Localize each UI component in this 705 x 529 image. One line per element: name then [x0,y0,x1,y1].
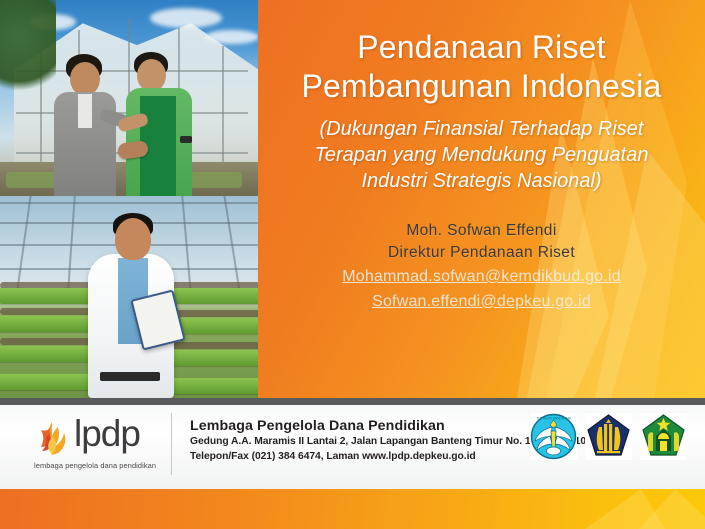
shirt-collar [78,94,92,128]
slide-subtitle-line-1: (Dukungan Finansial Terhadap Riset [272,116,691,142]
presenter-role: Direktur Pendanaan Riset [272,242,691,264]
flame-ray-decoration [585,489,665,529]
researcher-greenhouse-photo [0,196,258,398]
kementerian-agama-logo [640,413,687,460]
email-link-depkeu[interactable]: Sofwan.effendi@depkeu.go.id [272,291,691,314]
roof-beam [0,202,258,204]
lpdp-wordmark: lpdp [74,415,140,452]
title-panel: Pendanaan Riset Pembangunan Indonesia (D… [258,0,705,398]
lettuce-row [166,288,258,304]
lpdp-logo: lpdp lembaga pengelola dana pendidikan [28,417,164,475]
belt [100,372,160,381]
slide-subtitle-line-2: Terapan yang Mendukung Penguatan [272,142,691,168]
slide-subtitle: (Dukungan Finansial Terhadap Riset Terap… [272,116,691,194]
wristwatch [180,136,192,143]
footer-band: lpdp lembaga pengelola dana pendidikan L… [0,405,705,489]
flame-ray-decoration [639,489,705,529]
greenhouse-handshake-photo [0,0,258,196]
slide-title-line-2: Pembangunan Indonesia [272,67,691,106]
ministry-logos: TUT WURI HANDAYANI [530,413,687,460]
email-link-kemdikbud[interactable]: Mohammad.sofwan@kemdikbud.go.id [272,266,691,289]
slide-title: Pendanaan Riset Pembangunan Indonesia [272,0,691,106]
grass-patch [6,172,58,188]
bottom-accent-strip [0,489,705,529]
footer-divider [171,413,172,475]
cloud-shape [150,8,222,28]
slide-subtitle-line-3: Industri Strategis Nasional) [272,168,691,194]
presentation-slide: Pendanaan Riset Pembangunan Indonesia (D… [0,0,705,529]
soil-row [166,342,258,349]
svg-text:TUT WURI HANDAYANI: TUT WURI HANDAYANI [536,416,571,420]
kemdikbud-tut-wuri-handayani-logo: TUT WURI HANDAYANI [530,413,577,460]
kementerian-keuangan-logo [585,413,632,460]
slide-title-line-1: Pendanaan Riset [272,28,691,67]
lpdp-tagline: lembaga pengelola dana pendidikan [34,461,156,470]
head [115,218,151,260]
photo-column [0,0,258,398]
tree-foliage [0,0,56,102]
head [70,62,100,96]
title-content: Pendanaan Riset Pembangunan Indonesia (D… [258,0,705,314]
presenter-block: Moh. Sofwan Effendi Direktur Pendanaan R… [272,220,691,313]
presenter-name: Moh. Sofwan Effendi [272,220,691,242]
soil-row [168,310,258,317]
lpdp-flame-icon [32,421,72,457]
gray-separator-bar [0,398,705,405]
grass-patch [190,172,242,188]
